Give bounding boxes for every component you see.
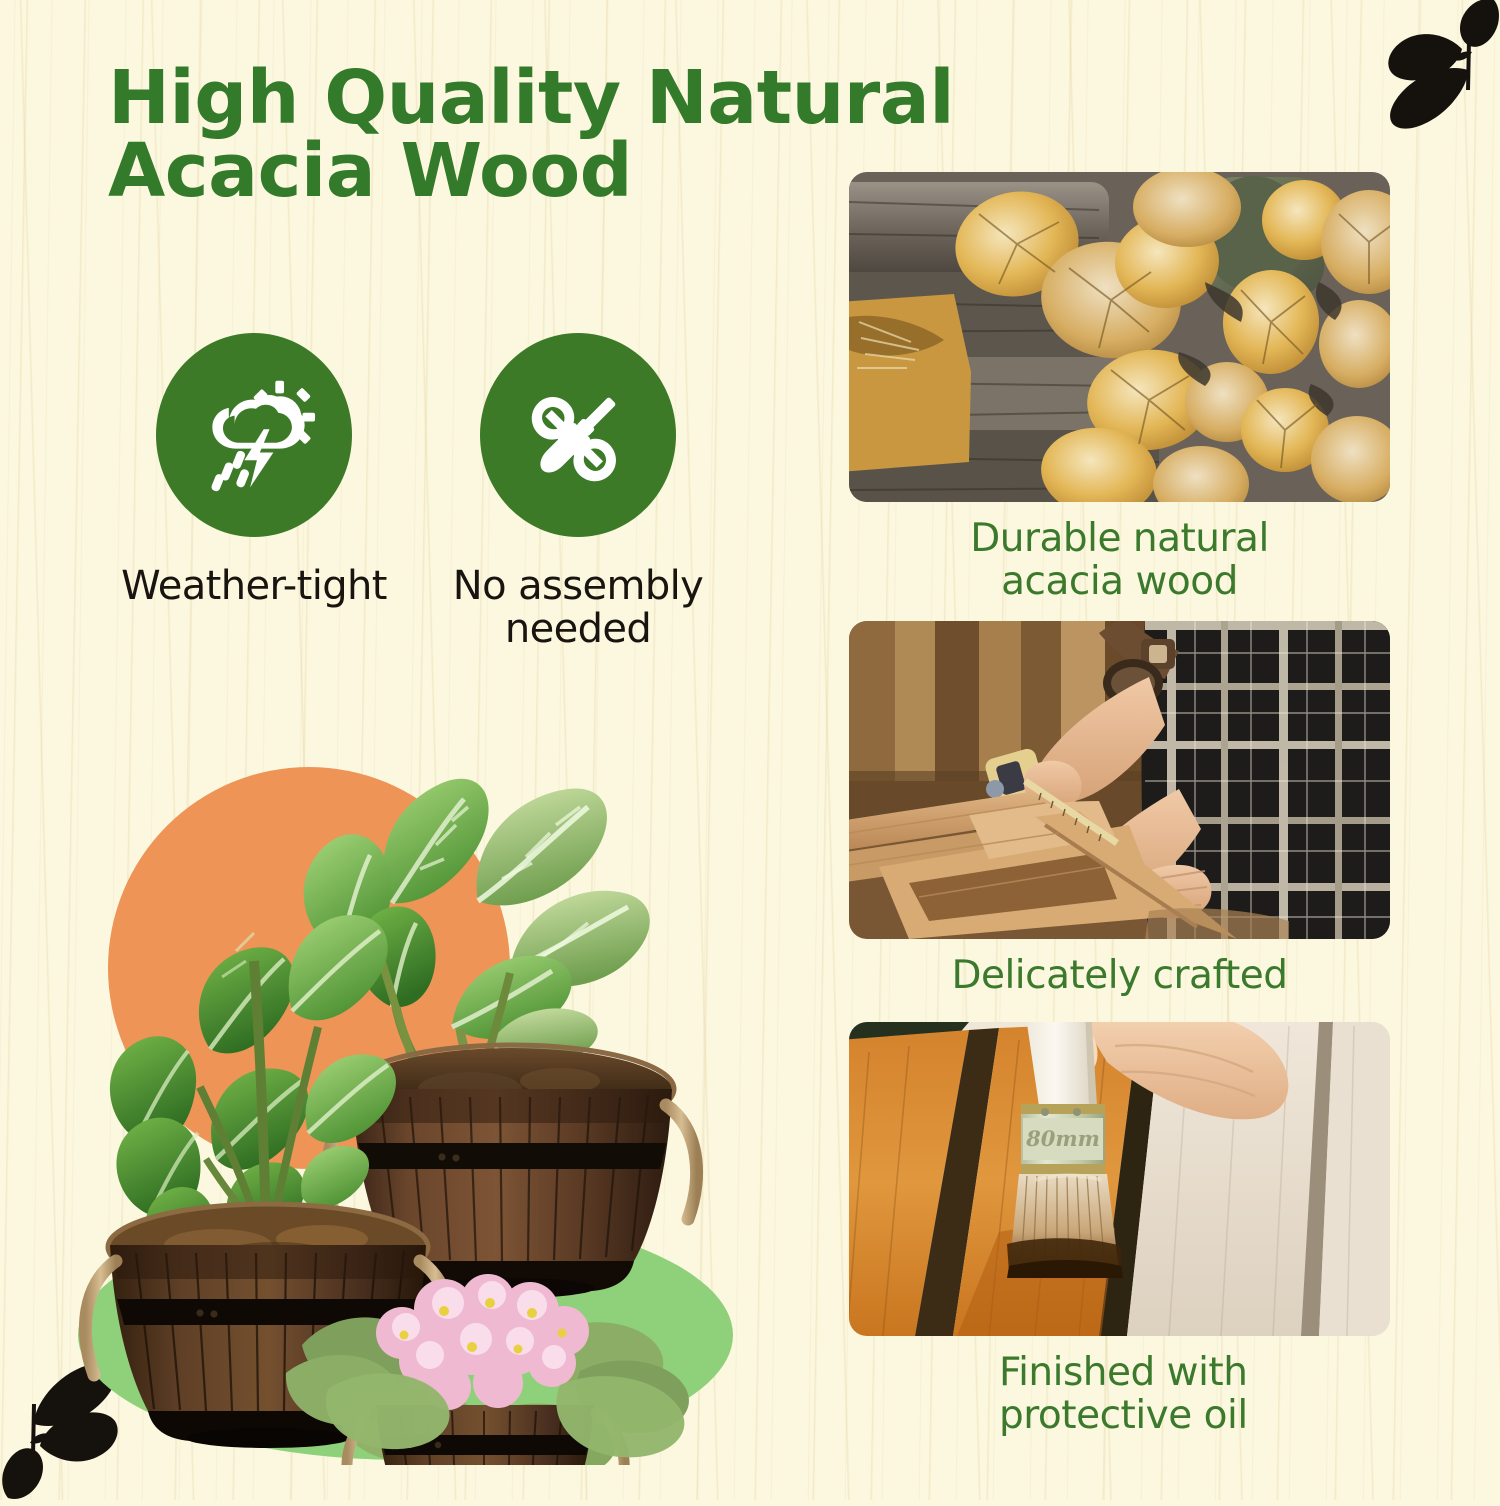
feature-badge-no-assembly: [480, 333, 676, 537]
photo-frame-oil-brush: 80mm: [849, 1022, 1390, 1336]
feature-badge-weather-tight: [156, 333, 352, 537]
photo-frame-craftsman: [849, 621, 1390, 939]
photo-caption-durable-wood: Durable natural acacia wood: [849, 518, 1390, 604]
feature-list: Weather-tight: [120, 333, 740, 651]
wrench-screwdriver-icon: [520, 377, 636, 493]
photo-card-protective-oil: 80mm Finished with protective oil: [849, 1022, 1390, 1438]
storm-cloud-icon: [192, 373, 316, 497]
feature-no-assembly: No assembly needed: [444, 333, 712, 651]
craftsman-measuring-photo: [849, 621, 1390, 939]
product-planters-photo: [40, 745, 760, 1465]
stacked-logs-photo: [849, 172, 1390, 502]
feature-weather-tight: Weather-tight: [120, 333, 388, 651]
brush-size-label: 80mm: [1025, 1126, 1100, 1151]
feature-label-weather-tight: Weather-tight: [121, 565, 387, 608]
product-hero: [40, 745, 760, 1465]
photo-caption-delicately-crafted: Delicately crafted: [849, 955, 1390, 998]
photo-card-delicately-crafted: Delicately crafted: [849, 621, 1390, 998]
photo-frame-logs: [849, 172, 1390, 502]
photo-caption-protective-oil: Finished with protective oil: [849, 1352, 1390, 1438]
oil-brush-photo: 80mm: [849, 1022, 1390, 1336]
photo-card-durable-wood: Durable natural acacia wood: [849, 172, 1390, 604]
feature-label-no-assembly: No assembly needed: [444, 565, 712, 651]
leaf-sprig-top-right-icon: [1344, 0, 1500, 129]
